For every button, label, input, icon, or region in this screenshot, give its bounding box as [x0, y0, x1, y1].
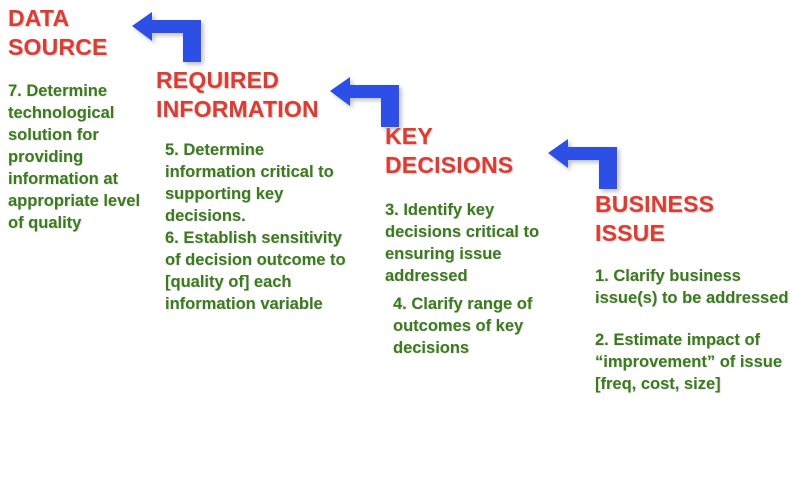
stage-required-information-heading: REQUIRED INFORMATION: [156, 66, 356, 124]
step-6: 6. Establish sensitivity of decision out…: [165, 228, 357, 316]
step-1: 1. Clarify business issue(s) to be addre…: [595, 266, 795, 310]
arrow-elbow-icon-key-decisions-to-required-information: [327, 70, 421, 132]
step-4: 4. Clarify range of outcomes of key deci…: [393, 294, 570, 360]
step-7: 7. Determine technological solution for …: [8, 81, 148, 235]
stage-business-issue-step-list: 1. Clarify business issue(s) to be addre…: [595, 266, 795, 396]
step-3: 3. Identify key decisions critical to en…: [385, 200, 570, 288]
stage-required-information: REQUIRED INFORMATION 5. Determine inform…: [156, 66, 356, 315]
arrow-elbow-icon-business-issue-to-key-decisions: [545, 132, 639, 194]
arrow-elbow-icon-required-information-to-data-source: [129, 5, 223, 67]
stage-required-information-step-list: 5. Determine information critical to sup…: [165, 140, 357, 316]
stage-data-source-step-list: 7. Determine technological solution for …: [8, 81, 148, 235]
stage-business-issue: BUSINESS ISSUE 1. Clarify business issue…: [595, 190, 800, 396]
diagram-canvas: DATA SOURCE 7. Determine technological s…: [0, 0, 801, 477]
step-5: 5. Determine information critical to sup…: [165, 140, 357, 228]
stage-key-decisions-step-list: 3. Identify key decisions critical to en…: [385, 200, 570, 360]
step-2: 2. Estimate impact of “improvement” of i…: [595, 330, 795, 396]
stage-business-issue-heading: BUSINESS ISSUE: [595, 190, 800, 248]
